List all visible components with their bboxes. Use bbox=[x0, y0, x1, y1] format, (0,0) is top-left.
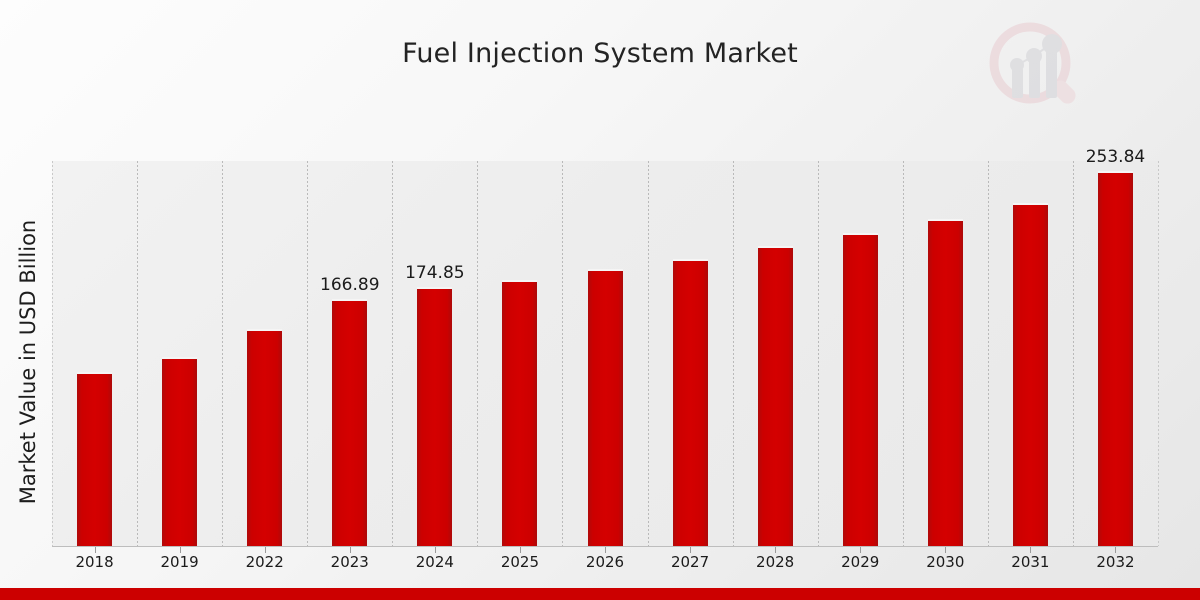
bar-value-label-2023: 166.89 bbox=[320, 275, 379, 295]
bar-2023[interactable] bbox=[332, 299, 367, 546]
bar-2031[interactable] bbox=[1013, 203, 1048, 546]
gridline bbox=[1158, 161, 1159, 546]
plot-area bbox=[52, 161, 1158, 546]
bar-2018[interactable] bbox=[77, 372, 112, 546]
bar-2019[interactable] bbox=[162, 357, 197, 546]
bar-2030[interactable] bbox=[928, 219, 963, 546]
footer-accent-bar bbox=[0, 588, 1200, 600]
gridline bbox=[1073, 161, 1074, 546]
gridline bbox=[307, 161, 308, 546]
x-tick-label-2026: 2026 bbox=[586, 553, 624, 571]
gridline bbox=[392, 161, 393, 546]
gridline bbox=[818, 161, 819, 546]
gridline bbox=[562, 161, 563, 546]
gridline bbox=[52, 161, 53, 546]
chart-container: Fuel Injection System Market Market Valu… bbox=[0, 0, 1200, 600]
x-tick-label-2032: 2032 bbox=[1096, 553, 1134, 571]
x-tick-label-2030: 2030 bbox=[926, 553, 964, 571]
x-tick-label-2018: 2018 bbox=[75, 553, 113, 571]
y-axis-title: Market Value in USD Billion bbox=[16, 162, 40, 562]
gridline bbox=[733, 161, 734, 546]
bar-value-label-2032: 253.84 bbox=[1086, 147, 1145, 167]
x-tick-label-2022: 2022 bbox=[246, 553, 284, 571]
gridline bbox=[137, 161, 138, 546]
bar-2032[interactable] bbox=[1098, 171, 1133, 546]
x-tick-label-2024: 2024 bbox=[416, 553, 454, 571]
gridline bbox=[903, 161, 904, 546]
x-tick-label-2023: 2023 bbox=[331, 553, 369, 571]
x-tick-label-2027: 2027 bbox=[671, 553, 709, 571]
bar-value-label-2024: 174.85 bbox=[405, 263, 464, 283]
bar-2029[interactable] bbox=[843, 233, 878, 546]
x-tick-label-2019: 2019 bbox=[161, 553, 199, 571]
gridline bbox=[648, 161, 649, 546]
bar-2022[interactable] bbox=[247, 329, 282, 546]
x-tick-label-2028: 2028 bbox=[756, 553, 794, 571]
x-tick-label-2025: 2025 bbox=[501, 553, 539, 571]
bar-2026[interactable] bbox=[588, 269, 623, 546]
chart-title: Fuel Injection System Market bbox=[0, 38, 1200, 69]
x-tick-label-2031: 2031 bbox=[1011, 553, 1049, 571]
bar-2025[interactable] bbox=[502, 280, 537, 547]
bar-2027[interactable] bbox=[673, 259, 708, 546]
bar-2024[interactable] bbox=[417, 287, 452, 546]
gridline bbox=[477, 161, 478, 546]
gridline bbox=[988, 161, 989, 546]
gridline bbox=[222, 161, 223, 546]
bar-2028[interactable] bbox=[758, 246, 793, 546]
x-tick-label-2029: 2029 bbox=[841, 553, 879, 571]
